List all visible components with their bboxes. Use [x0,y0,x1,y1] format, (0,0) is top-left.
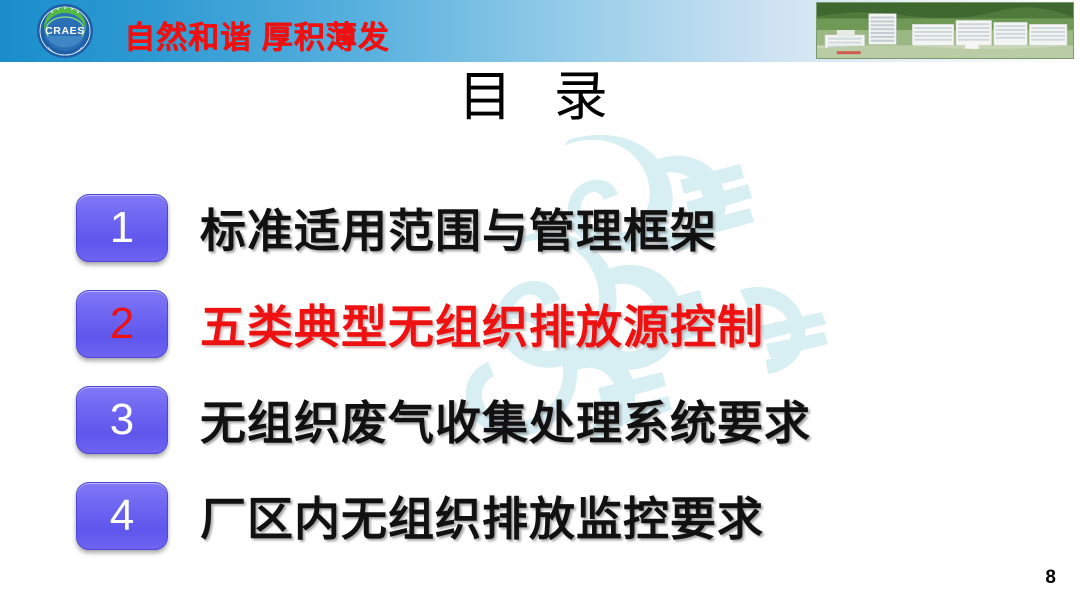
toc-badge-2: 2 [76,290,168,358]
toc-label-3: 无组织废气收集处理系统要求 [200,387,811,453]
toc-label-4: 厂区内无组织排放监控要求 [200,483,764,549]
toc-badge-4: 4 [76,482,168,550]
slide-header: CRAES 自然和谐 厚积薄发 [0,0,1080,62]
toc-badge-1: 1 [76,194,168,262]
table-of-contents: 1 标准适用范围与管理框架 2 五类典型无组织排放源控制 3 无组织废气收集处理… [0,180,1080,564]
craes-logo-icon: CRAES [36,3,94,59]
toc-label-1: 标准适用范围与管理框架 [200,195,717,261]
presentation-slide: CRAES 自然和谐 厚积薄发 [0,0,1080,607]
toc-item-1[interactable]: 1 标准适用范围与管理框架 [0,180,1080,276]
toc-item-2[interactable]: 2 五类典型无组织排放源控制 [0,276,1080,372]
toc-label-2: 五类典型无组织排放源控制 [200,291,764,357]
toc-item-3[interactable]: 3 无组织废气收集处理系统要求 [0,372,1080,468]
header-slogan: 自然和谐 厚积薄发 [124,12,390,57]
page-title: 目 录 [0,68,1080,127]
page-number: 8 [1045,567,1056,589]
toc-badge-number: 1 [110,206,134,250]
toc-badge-number: 2 [110,302,134,346]
toc-badge-number: 4 [110,494,134,538]
toc-item-4[interactable]: 4 厂区内无组织排放监控要求 [0,468,1080,564]
toc-badge-number: 3 [110,398,134,442]
toc-badge-3: 3 [76,386,168,454]
campus-aerial-photo-icon [816,2,1074,59]
svg-text:CRAES: CRAES [45,25,85,37]
